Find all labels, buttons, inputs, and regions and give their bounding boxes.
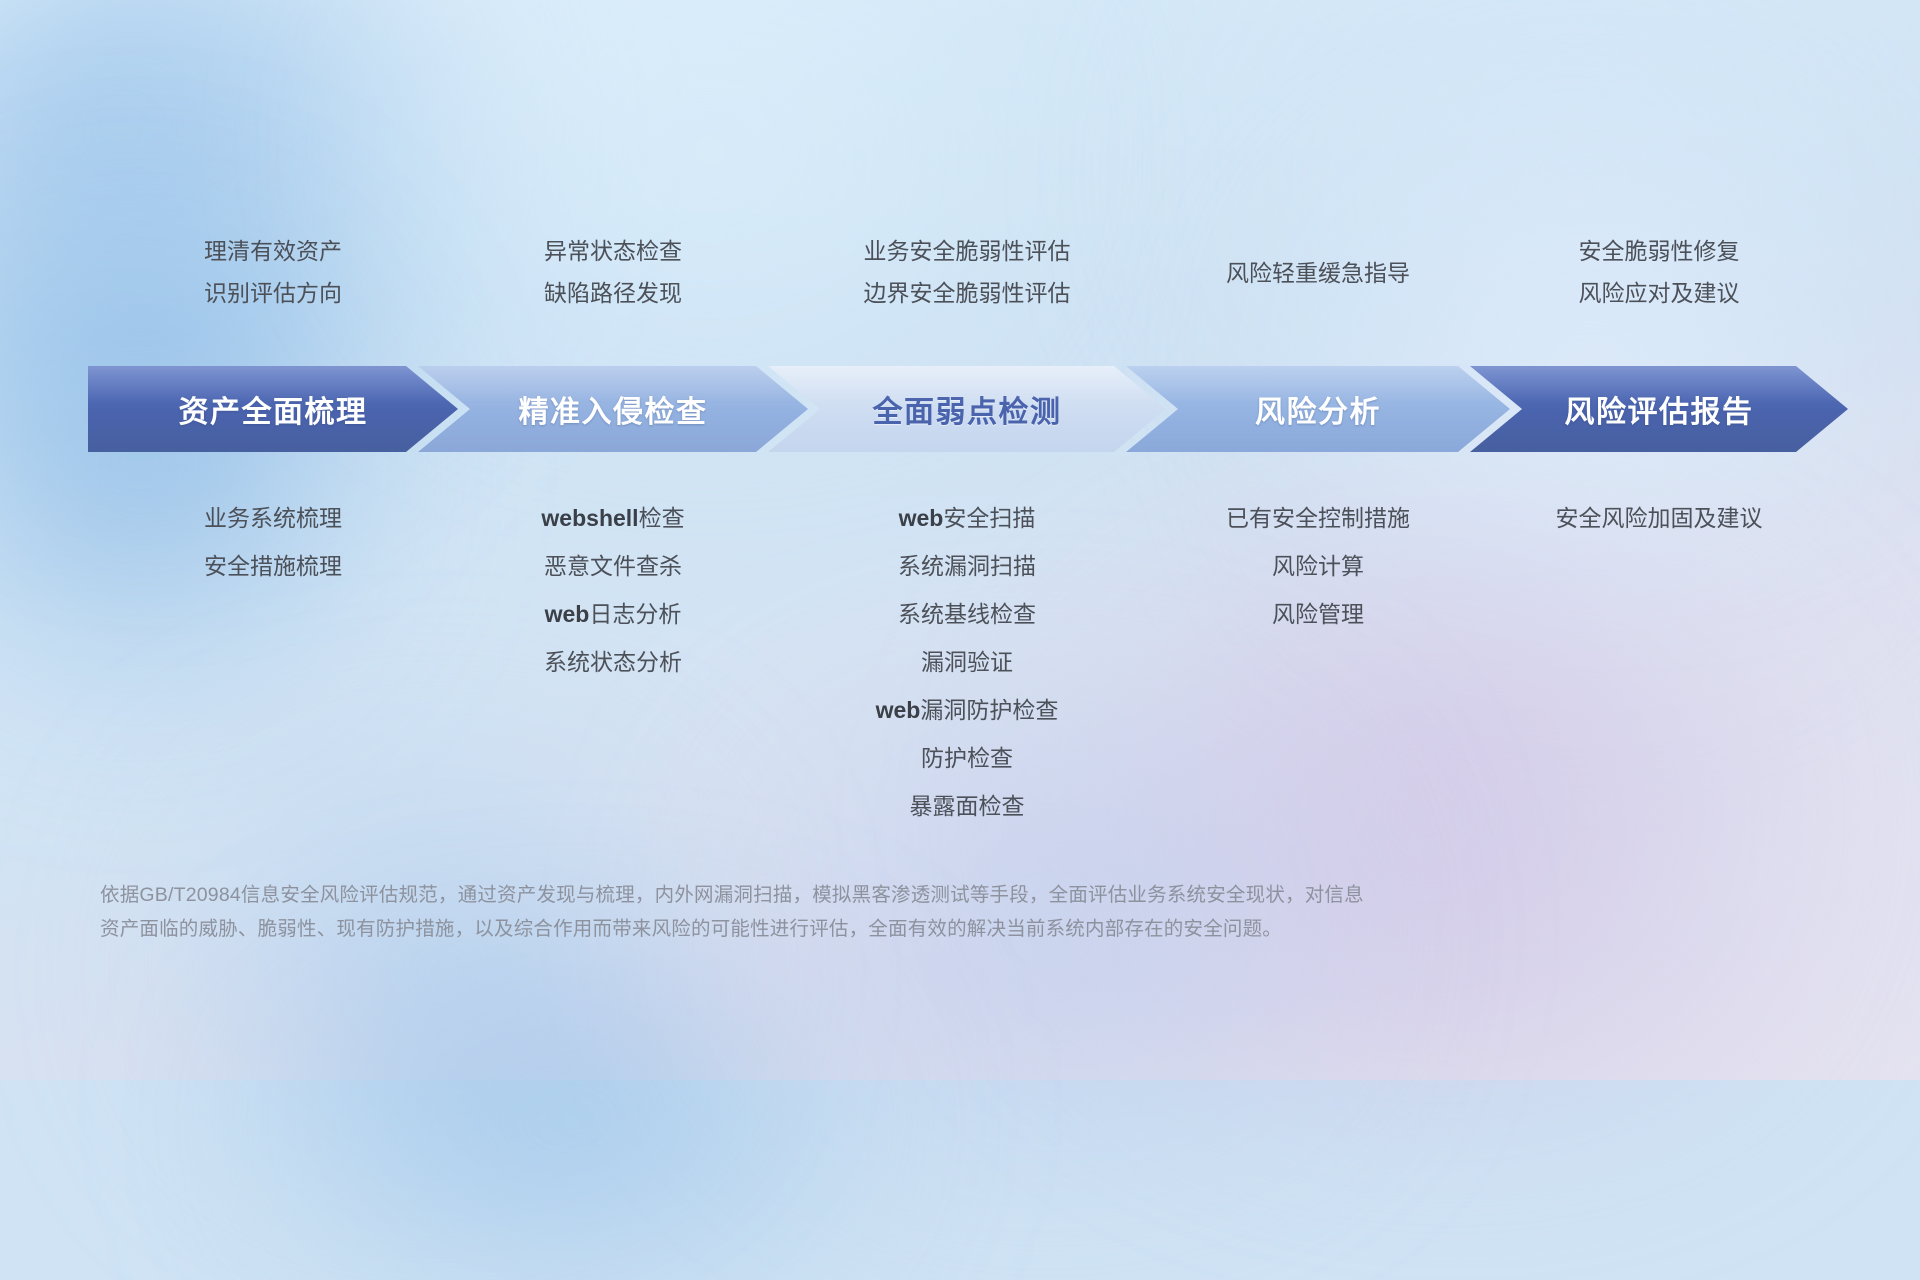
list-item: web日志分析	[418, 590, 808, 638]
top-note: 安全脆弱性修复	[1470, 230, 1848, 272]
footer-line: 依据GB/T20984信息安全风险评估规范，通过资产发现与梳理，内外网漏洞扫描，…	[100, 878, 1820, 912]
list-item-emphasis: web	[545, 601, 590, 627]
list-item-emphasis: web	[899, 505, 944, 531]
list-item: 恶意文件查杀	[418, 542, 808, 590]
list-item: 风险管理	[1126, 590, 1510, 638]
stage-label: 风险评估报告	[1565, 387, 1754, 431]
items-intrusion-check: webshell检查恶意文件查杀web日志分析系统状态分析	[418, 494, 808, 686]
top-note: 风险应对及建议	[1470, 272, 1848, 314]
list-item-emphasis: webshell	[541, 505, 638, 531]
top-note: 边界安全脆弱性评估	[768, 272, 1166, 314]
stage-arrow-band: 资产全面梳理 精准入侵检查 全面弱点检测 风险分析 风险评估报告	[88, 366, 1848, 452]
list-item: 风险计算	[1126, 542, 1510, 590]
stage-arrow-assessment-report[interactable]: 风险评估报告	[1470, 366, 1848, 452]
list-item: 已有安全控制措施	[1126, 494, 1510, 542]
stage-label: 精准入侵检查	[519, 387, 708, 431]
list-item-emphasis: web	[876, 697, 921, 723]
top-note: 识别评估方向	[88, 272, 458, 314]
process-diagram: 理清有效资产 识别评估方向 异常状态检查 缺陷路径发现 业务安全脆弱性评估 边界…	[0, 0, 1920, 1080]
top-notes-assessment-report: 安全脆弱性修复 风险应对及建议	[1470, 230, 1848, 314]
list-item: 漏洞验证	[768, 638, 1166, 686]
top-note: 业务安全脆弱性评估	[768, 230, 1166, 272]
stage-arrow-asset-inventory[interactable]: 资产全面梳理	[88, 366, 458, 452]
stage-arrow-weakness-detection[interactable]: 全面弱点检测	[768, 366, 1166, 452]
stage-label: 风险分析	[1255, 387, 1381, 431]
footer-description: 依据GB/T20984信息安全风险评估规范，通过资产发现与梳理，内外网漏洞扫描，…	[100, 878, 1820, 946]
list-item: 暴露面检查	[768, 782, 1166, 830]
list-item: 安全风险加固及建议	[1470, 494, 1848, 542]
items-asset-inventory: 业务系统梳理安全措施梳理	[88, 494, 458, 590]
stage-label: 资产全面梳理	[179, 387, 368, 431]
list-item: 业务系统梳理	[88, 494, 458, 542]
stage-label: 全面弱点检测	[873, 387, 1062, 431]
top-notes-row: 理清有效资产 识别评估方向 异常状态检查 缺陷路径发现 业务安全脆弱性评估 边界…	[88, 230, 1848, 350]
list-item: web漏洞防护检查	[768, 686, 1166, 734]
list-item: webshell检查	[418, 494, 808, 542]
items-risk-analysis: 已有安全控制措施风险计算风险管理	[1126, 494, 1510, 638]
list-item: 防护检查	[768, 734, 1166, 782]
top-note: 理清有效资产	[88, 230, 458, 272]
list-item: 安全措施梳理	[88, 542, 458, 590]
top-notes-asset-inventory: 理清有效资产 识别评估方向	[88, 230, 458, 314]
top-notes-weakness-detection: 业务安全脆弱性评估 边界安全脆弱性评估	[768, 230, 1166, 314]
top-note: 缺陷路径发现	[418, 272, 808, 314]
items-weakness-detection: web安全扫描系统漏洞扫描系统基线检查漏洞验证web漏洞防护检查防护检查暴露面检…	[768, 494, 1166, 830]
stage-arrow-intrusion-check[interactable]: 精准入侵检查	[418, 366, 808, 452]
list-item: 系统状态分析	[418, 638, 808, 686]
top-note: 风险轻重缓急指导	[1126, 252, 1510, 294]
top-notes-risk-analysis: 风险轻重缓急指导	[1126, 230, 1510, 294]
top-note: 异常状态检查	[418, 230, 808, 272]
list-item: 系统基线检查	[768, 590, 1166, 638]
list-item: web安全扫描	[768, 494, 1166, 542]
footer-line: 资产面临的威胁、脆弱性、现有防护措施，以及综合作用而带来风险的可能性进行评估，全…	[100, 912, 1820, 946]
list-item: 系统漏洞扫描	[768, 542, 1166, 590]
top-notes-intrusion-check: 异常状态检查 缺陷路径发现	[418, 230, 808, 314]
items-assessment-report: 安全风险加固及建议	[1470, 494, 1848, 542]
stage-items-row: 业务系统梳理安全措施梳理 webshell检查恶意文件查杀web日志分析系统状态…	[88, 494, 1848, 834]
stage-arrow-risk-analysis[interactable]: 风险分析	[1126, 366, 1510, 452]
